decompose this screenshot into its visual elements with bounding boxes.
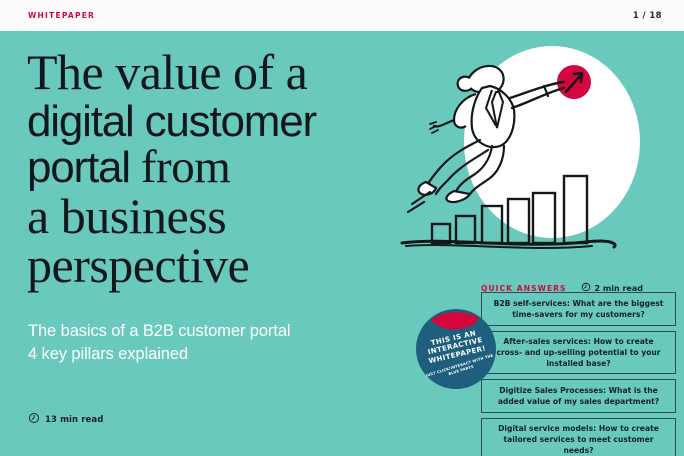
read-time: 13 min read xyxy=(28,411,103,429)
quick-answer-card[interactable]: After-sales services: How to create cros… xyxy=(481,331,676,374)
interactive-whitepaper-badge[interactable]: THIS IS AN INTERACTIVE WHITEPAPER! JUST … xyxy=(415,308,497,390)
document-kicker: WHITEPAPER xyxy=(28,11,95,20)
top-bar: WHITEPAPER 1 / 18 xyxy=(0,0,684,31)
subtitle-line-1: The basics of a B2B customer portal xyxy=(28,320,368,343)
subtitle-line-2: 4 key pillars explained xyxy=(28,343,368,366)
headline-line-4: a business xyxy=(27,192,377,242)
quick-answers-list: B2B self-services: What are the biggest … xyxy=(481,292,676,456)
clock-icon xyxy=(28,411,40,429)
page-indicator: 1 / 18 xyxy=(633,11,662,21)
quick-answer-card[interactable]: Digital service models: How to create ta… xyxy=(481,418,676,456)
headline-line-1: The value of a xyxy=(27,48,377,98)
headline-line-3: portal from xyxy=(27,144,377,191)
page-title: The value of a digital customer portal f… xyxy=(27,48,377,291)
businessman-leaping-over-bar-chart-illustration xyxy=(396,36,684,268)
page-subtitle: The basics of a B2B customer portal 4 ke… xyxy=(28,320,368,367)
quick-answer-card[interactable]: B2B self-services: What are the biggest … xyxy=(481,292,676,326)
whitepaper-cover-page: WHITEPAPER 1 / 18 The value of a digital… xyxy=(0,0,684,456)
headline-line-5: perspective xyxy=(27,241,377,291)
quick-answer-card[interactable]: Digitize Sales Processes: What is the ad… xyxy=(481,379,676,413)
read-time-label: 13 min read xyxy=(45,415,103,425)
headline-line-2: digital customer xyxy=(27,100,377,144)
